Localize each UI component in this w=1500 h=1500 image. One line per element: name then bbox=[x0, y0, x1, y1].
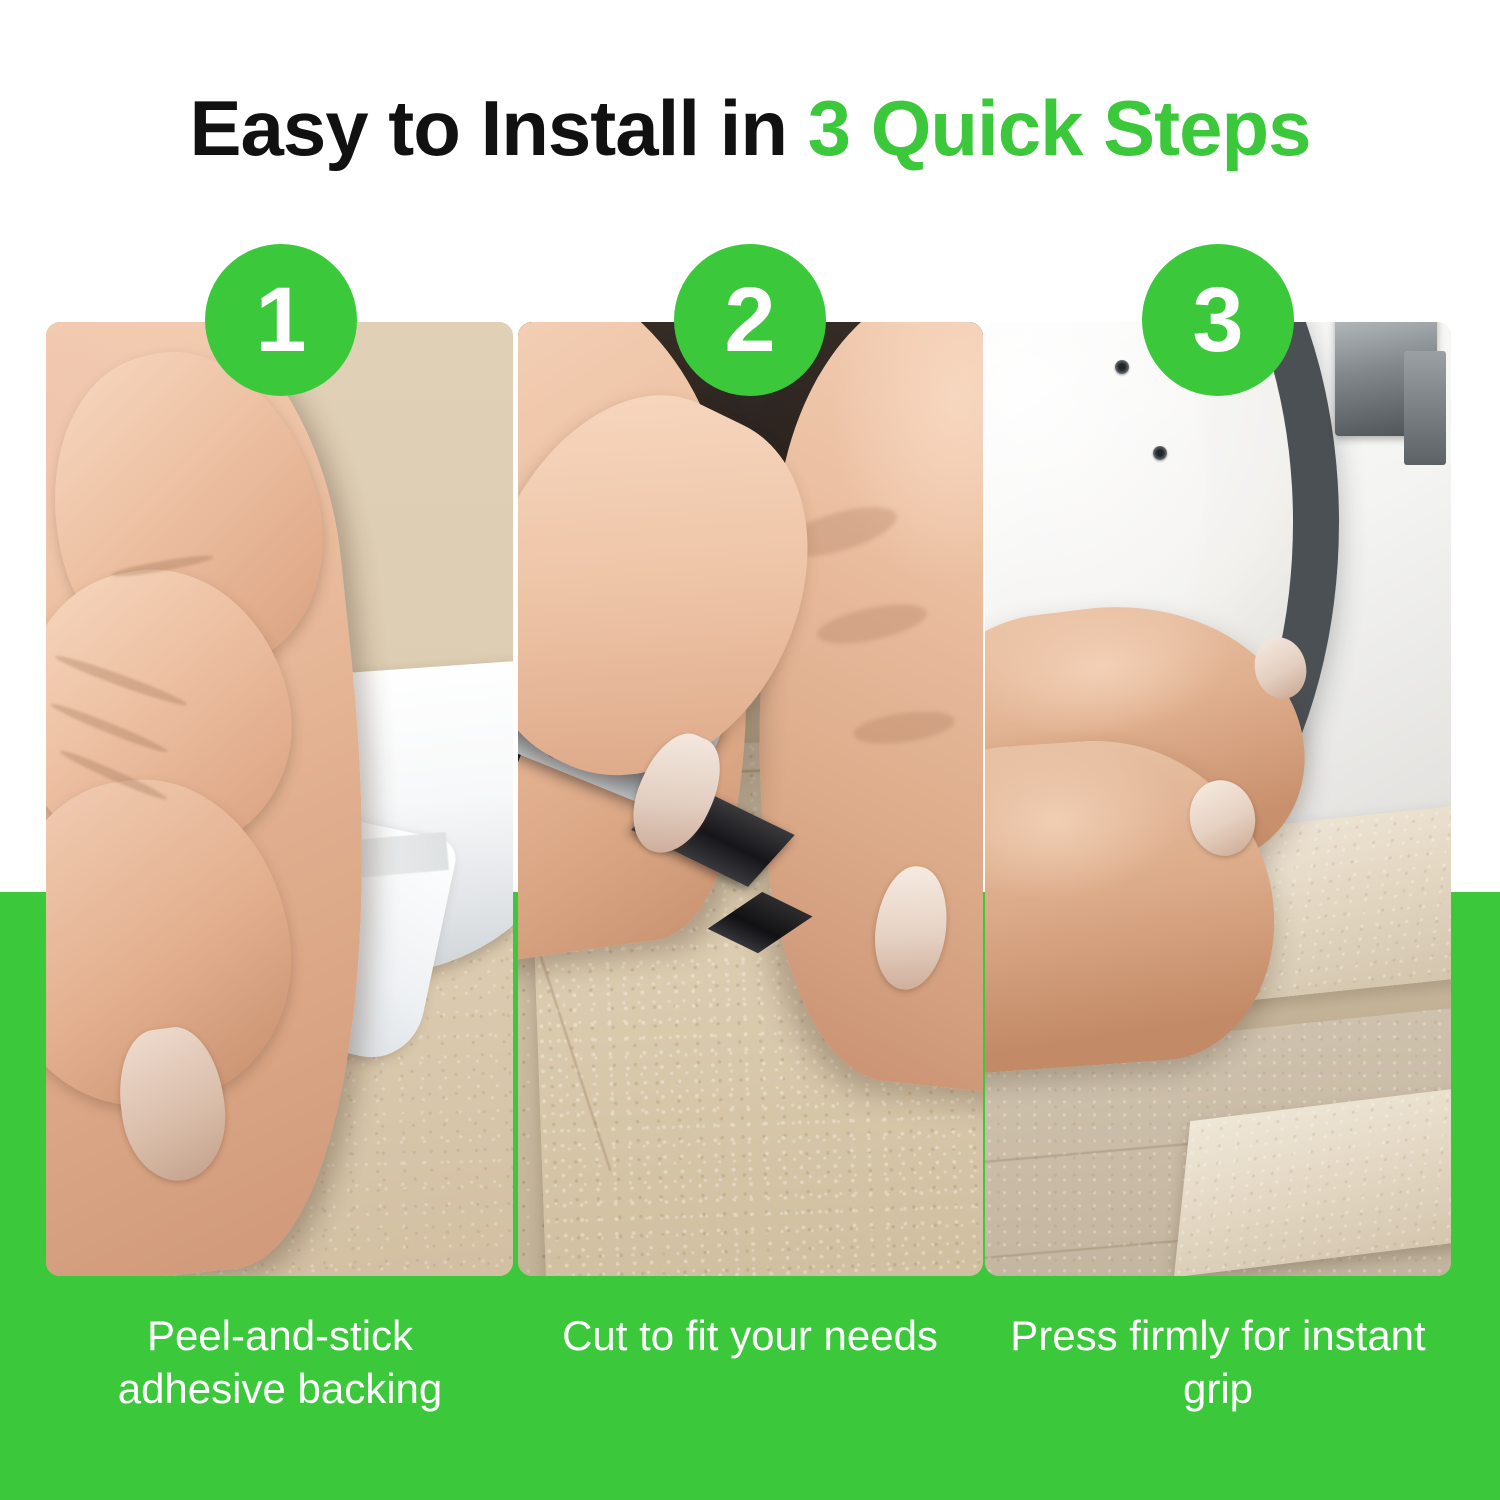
press-pad-illustration bbox=[985, 322, 1451, 1276]
peel-backing-illustration bbox=[46, 322, 513, 1276]
step-badge-1: 1 bbox=[205, 244, 357, 396]
step-image-2 bbox=[518, 322, 983, 1276]
step-image-3 bbox=[985, 322, 1451, 1276]
step-caption-1: Peel-and-stick adhesive backing bbox=[70, 1310, 490, 1416]
steps-gallery bbox=[0, 0, 1500, 1500]
door-screw bbox=[1153, 446, 1167, 460]
step-badge-2: 2 bbox=[674, 244, 826, 396]
step-badge-3: 3 bbox=[1142, 244, 1294, 396]
step-caption-3: Press firmly for instant grip bbox=[1008, 1310, 1428, 1416]
cutting-illustration bbox=[518, 322, 983, 1276]
step-caption-2: Cut to fit your needs bbox=[540, 1310, 960, 1363]
infographic-root: Easy to Install in 3 Quick Steps bbox=[0, 0, 1500, 1500]
door-hinge-bracket bbox=[1404, 351, 1446, 465]
step-image-1 bbox=[46, 322, 513, 1276]
